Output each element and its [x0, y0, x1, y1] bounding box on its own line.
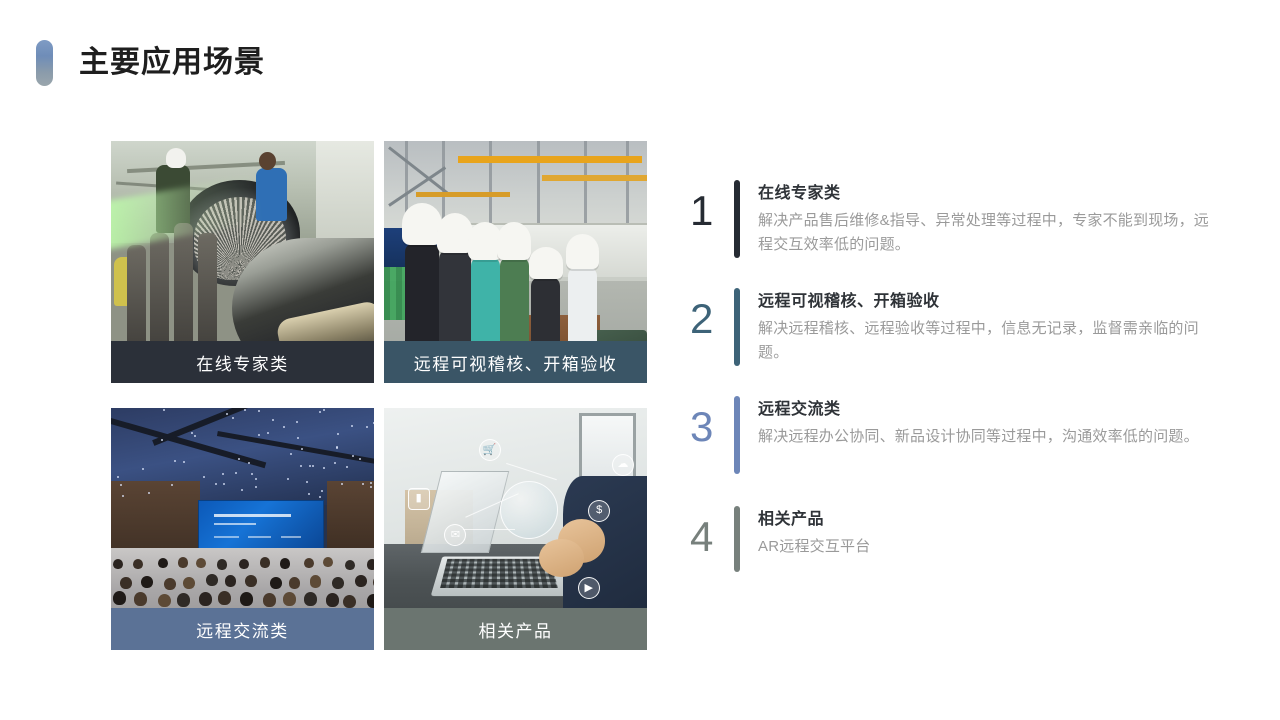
list-item[interactable]: 3 远程交流类 解决远程办公协同、新品设计协同等过程中，沟通效率低的问题。: [690, 396, 1210, 474]
page-header: 主要应用场景: [36, 40, 265, 86]
list-item[interactable]: 4 相关产品 AR远程交互平台: [690, 506, 1210, 572]
scenario-card-caption: 远程交流类: [111, 608, 374, 650]
list-item-number: 1: [690, 180, 734, 232]
list-item-title: 在线专家类: [758, 182, 1210, 206]
scenario-card-1[interactable]: 在线专家类: [111, 141, 374, 383]
list-item-description: 解决远程办公协同、新品设计协同等过程中，沟通效率低的问题。: [758, 425, 1210, 449]
list-item-description: 解决远程稽核、远程验收等过程中，信息无记录，监督需亲临的问题。: [758, 317, 1210, 366]
list-item-title: 相关产品: [758, 508, 1210, 532]
scenario-image-grid: 在线专家类 远程可视稽核、开箱验收: [111, 141, 647, 650]
list-item[interactable]: 2 远程可视稽核、开箱验收 解决远程稽核、远程验收等过程中，信息无记录，监督需亲…: [690, 288, 1210, 366]
scenario-card-4[interactable]: 🛒 ▮ ✉ ☁ $ ▶ ▬ 相关产品: [384, 408, 647, 650]
list-item-title: 远程交流类: [758, 398, 1210, 422]
list-item-number: 4: [690, 506, 734, 558]
dollar-icon: $: [588, 500, 610, 522]
list-item-description: 解决产品售后维修&指导、异常处理等过程中，专家不能到现场，远程交互效率低的问题。: [758, 209, 1210, 258]
list-item[interactable]: 1 在线专家类 解决产品售后维修&指导、异常处理等过程中，专家不能到现场，远程交…: [690, 180, 1210, 258]
list-item-accent-bar: [734, 288, 740, 366]
play-icon: ▶: [578, 577, 600, 599]
pill-bullet-icon: [36, 40, 53, 86]
cart-icon: 🛒: [479, 439, 501, 461]
scenario-card-caption: 远程可视稽核、开箱验收: [384, 341, 647, 383]
scenario-card-caption: 在线专家类: [111, 341, 374, 383]
list-item-accent-bar: [734, 396, 740, 474]
scenario-list: 1 在线专家类 解决产品售后维修&指导、异常处理等过程中，专家不能到现场，远程交…: [690, 180, 1210, 572]
scenario-card-3[interactable]: 远程交流类: [111, 408, 374, 650]
list-item-accent-bar: [734, 180, 740, 258]
scenario-card-2[interactable]: 远程可视稽核、开箱验收: [384, 141, 647, 383]
cloud-icon: ☁: [612, 454, 634, 476]
list-item-number: 3: [690, 396, 734, 448]
list-item-title: 远程可视稽核、开箱验收: [758, 290, 1210, 314]
scenario-card-caption: 相关产品: [384, 608, 647, 650]
mobile-icon: ▮: [408, 488, 430, 510]
list-item-description: AR远程交互平台: [758, 535, 1210, 559]
page-title: 主要应用场景: [79, 48, 265, 78]
list-item-accent-bar: [734, 506, 740, 572]
list-item-number: 2: [690, 288, 734, 340]
